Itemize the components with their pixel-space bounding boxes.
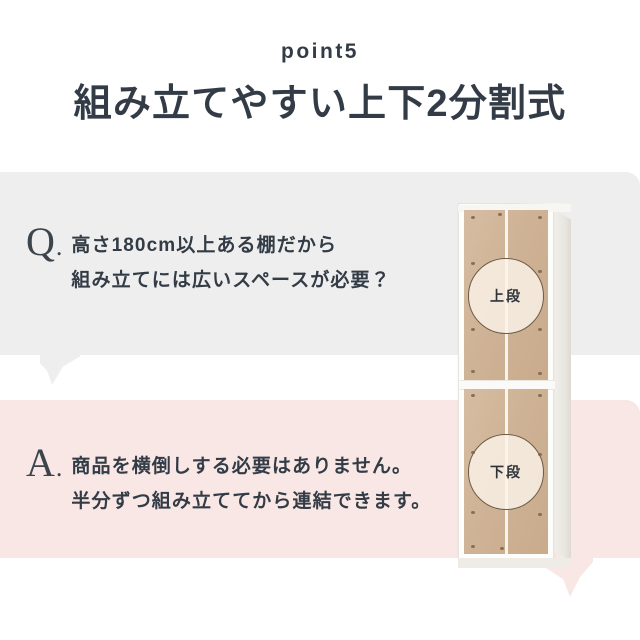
answer-letter-dot: . xyxy=(56,453,64,482)
lower-section-badge: 下段 xyxy=(468,434,544,510)
answer-letter: A. xyxy=(26,443,63,483)
point-label: point5 xyxy=(0,41,640,62)
question-letter: Q. xyxy=(26,222,63,262)
screw-icon xyxy=(471,545,475,548)
infographic-page: point5 組み立てやすい上下2分割式 Q. 高さ180cm以上ある棚だから … xyxy=(0,0,640,640)
screw-icon xyxy=(538,270,542,273)
cabinet-side-panel xyxy=(553,209,571,561)
upper-section-badge: 上段 xyxy=(468,258,544,334)
screw-icon xyxy=(471,394,475,397)
screw-icon xyxy=(538,453,542,456)
screw-icon xyxy=(471,216,475,219)
question-block: Q. 高さ180cm以上ある棚だから 組み立てには広いスペースが必要？ xyxy=(26,222,391,298)
answer-letter-glyph: A xyxy=(26,440,56,485)
lower-section: 下段 xyxy=(464,389,548,554)
screw-icon xyxy=(538,216,542,219)
screw-icon xyxy=(538,513,542,516)
header-section: point5 組み立てやすい上下2分割式 xyxy=(0,0,640,172)
question-line-1: 高さ180cm以上ある棚だから xyxy=(71,229,390,264)
cabinet-bottom-panel xyxy=(458,558,571,568)
screw-icon xyxy=(471,511,475,514)
screw-icon xyxy=(538,394,542,397)
shelf-illustration: 上段 下段 xyxy=(458,203,580,565)
question-letter-dot: . xyxy=(56,232,64,261)
upper-section: 上段 xyxy=(464,210,548,381)
page-title: 組み立てやすい上下2分割式 xyxy=(0,80,640,129)
question-letter-glyph: Q xyxy=(26,219,56,264)
screw-icon xyxy=(471,370,475,373)
screw-icon xyxy=(498,213,502,216)
screw-icon xyxy=(471,328,475,331)
upper-section-label: 上段 xyxy=(490,289,522,303)
question-bubble-tail xyxy=(40,354,80,385)
answer-line-2: 半分ずつ組み立ててから連結できます。 xyxy=(71,485,431,520)
answer-line-1: 商品を横倒しする必要はありません。 xyxy=(71,450,431,485)
screw-icon xyxy=(538,328,542,331)
screw-icon xyxy=(538,372,542,375)
screw-icon xyxy=(500,547,504,550)
answer-text: 商品を横倒しする必要はありません。 半分ずつ組み立ててから連結できます。 xyxy=(71,450,431,519)
lower-section-label: 下段 xyxy=(490,465,522,479)
question-line-2: 組み立てには広いスペースが必要？ xyxy=(71,264,390,299)
question-text: 高さ180cm以上ある棚だから 組み立てには広いスペースが必要？ xyxy=(71,229,390,298)
screw-icon xyxy=(471,262,475,265)
answer-block: A. 商品を横倒しする必要はありません。 半分ずつ組み立ててから連結できます。 xyxy=(26,443,431,519)
screw-icon xyxy=(471,451,475,454)
